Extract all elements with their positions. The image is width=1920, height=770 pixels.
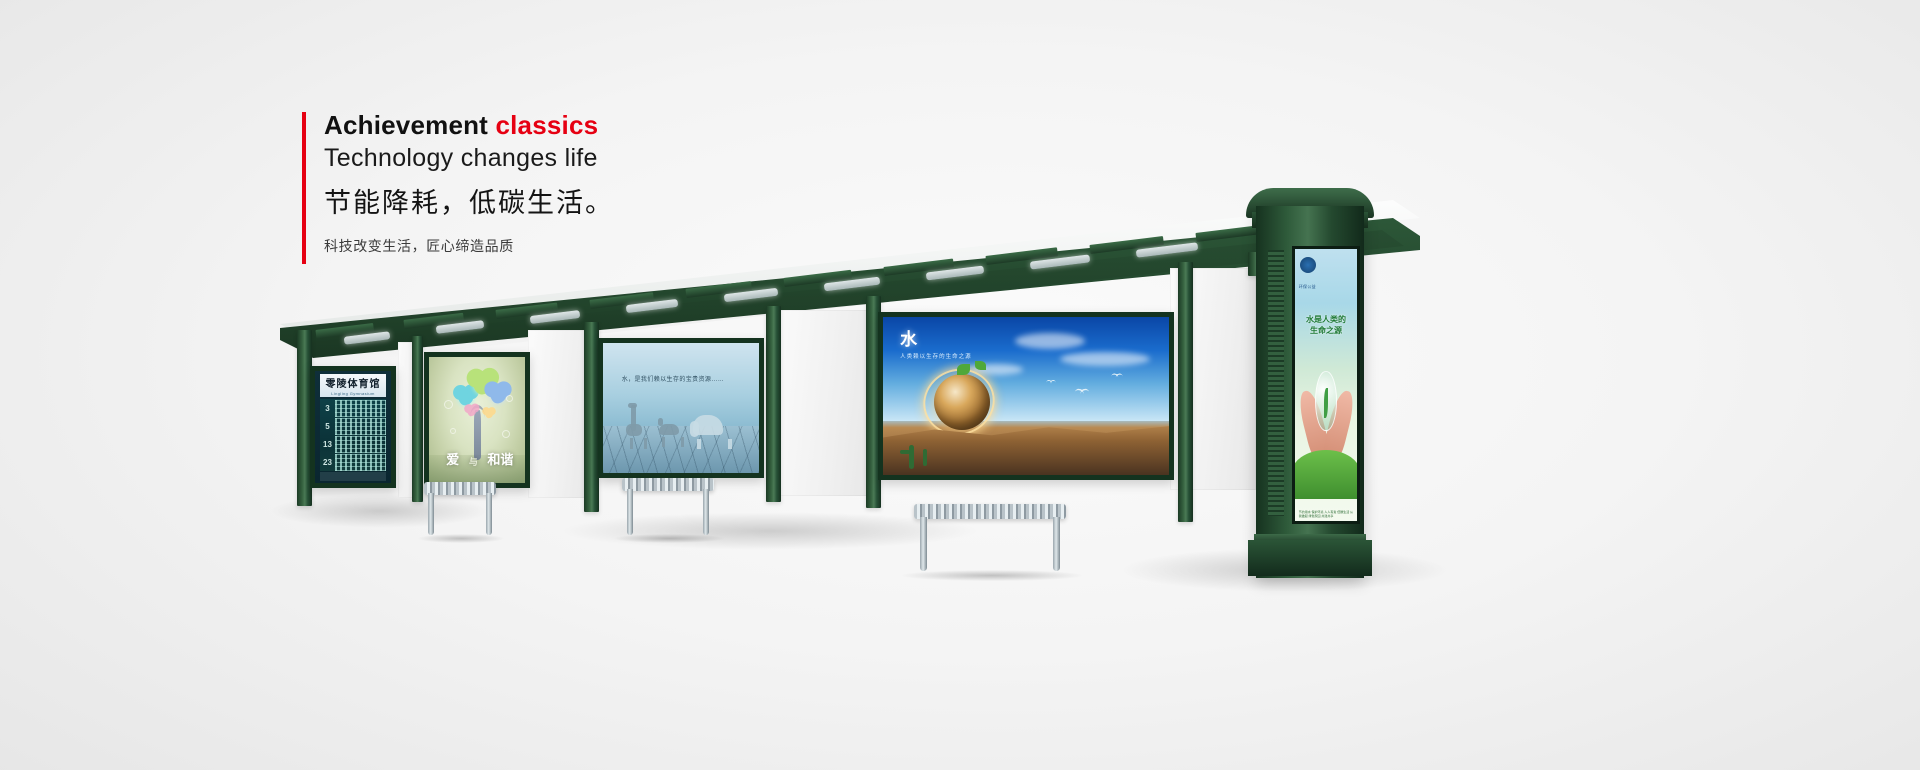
caption-left: 爱	[446, 449, 459, 468]
bird-icon	[1046, 380, 1056, 385]
timetable-row: 23	[320, 454, 385, 470]
tower-louver-vent	[1268, 250, 1284, 516]
tower-ad-headline: 水是人类的 生命之源	[1300, 314, 1352, 336]
timetable-lightbox[interactable]: 零陵体育馆 Lingling Gymnasium 3 5	[310, 366, 396, 488]
bench-shadow	[614, 534, 724, 543]
giraffe-silhouette	[630, 438, 633, 449]
timetable-hour: 5	[320, 422, 334, 431]
ad-animal-artwork: 水，是我们赖以生存的宝贵资源……	[603, 343, 759, 473]
timetable-hour: 13	[320, 440, 334, 449]
bench-leg	[486, 493, 492, 535]
station-name-cn: 零陵体育馆	[325, 375, 380, 390]
bench-leg	[920, 517, 927, 571]
scene-background: Achievement classics Technology changes …	[0, 0, 1920, 770]
ad-animal-caption: 水，是我们赖以生存的宝贵资源……	[622, 374, 724, 383]
station-name-en: Lingling Gymnasium	[331, 391, 374, 396]
tower-ad-lightbox[interactable]: 环保公益 水是人类的 生命之源 节约用水 保护环境 人人有责 低碳生活 从我做起…	[1292, 246, 1360, 524]
camel-silhouette	[662, 437, 665, 447]
bus-shelter: 零陵体育馆 Lingling Gymnasium 3 5	[0, 0, 1920, 770]
elephant-silhouette	[697, 439, 701, 449]
caption-right: 和谐	[487, 449, 513, 468]
tower-base	[1248, 540, 1372, 576]
tower-ad-headline-line2: 生命之源	[1300, 325, 1352, 336]
support-post	[412, 336, 423, 502]
desert-dunes	[883, 418, 1169, 475]
bench-leg	[627, 489, 633, 535]
organization-logo-text: 环保公益	[1299, 284, 1316, 290]
timetable-content: 零陵体育馆 Lingling Gymnasium 3 5	[315, 371, 391, 483]
ad-water-subtitle: 人类赖以生存的生命之源	[900, 352, 972, 360]
tower-ad-footer-text: 节约用水 保护环境 人人有责 低碳生活 从我做起 绿色家园 共建共享	[1299, 510, 1354, 518]
ad-water-artwork: 水 人类赖以生存的生命之源	[883, 317, 1169, 475]
ad-water-title: 水	[900, 325, 917, 350]
support-post	[584, 322, 599, 512]
bench-shadow	[902, 570, 1082, 581]
tower-ad-artwork: 环保公益 水是人类的 生命之源 节约用水 保护环境 人人有责 低碳生活 从我做起…	[1295, 249, 1357, 521]
bench	[914, 504, 1066, 576]
bench-leg	[428, 493, 434, 535]
cloud-decor	[1015, 333, 1085, 349]
timetable-grid: 3 5 13 23	[320, 399, 385, 471]
bird-icon	[1111, 373, 1123, 379]
ad-love-artwork: 爱 与 和谐	[429, 357, 525, 483]
back-panel	[528, 330, 592, 498]
cloud-decor	[1060, 352, 1150, 366]
giraffe-silhouette	[644, 438, 647, 449]
bubble-decor	[506, 395, 513, 402]
timetable-minutes	[335, 436, 386, 452]
ad-love-caption: 爱 与 和谐	[446, 449, 513, 468]
bench-seat	[914, 504, 1066, 519]
back-panel	[776, 310, 872, 496]
organization-logo-icon	[1300, 257, 1316, 273]
ad-screen: 爱 与 和谐	[429, 357, 525, 483]
timetable-header: 零陵体育馆 Lingling Gymnasium	[320, 374, 385, 396]
bird-icon	[1075, 388, 1090, 396]
camel-silhouette	[681, 437, 684, 447]
giraffe-silhouette	[626, 424, 642, 436]
timetable-row: 3	[320, 400, 385, 416]
bubble-decor	[450, 428, 456, 434]
ad-lightbox-water[interactable]: 水 人类赖以生存的生命之源	[878, 312, 1174, 480]
camel-silhouette	[658, 418, 663, 426]
bench-leg	[703, 489, 709, 535]
sprout-icon	[975, 361, 986, 370]
cactus-icon	[909, 445, 914, 469]
giraffe-silhouette	[628, 403, 637, 408]
timetable-row: 13	[320, 436, 385, 452]
bench	[622, 478, 714, 540]
bench-seat	[622, 478, 714, 491]
timetable-row: 5	[320, 418, 385, 434]
tower-ad-headline-line1: 水是人类的	[1300, 314, 1352, 325]
bubble-decor	[502, 430, 510, 438]
elephant-silhouette	[690, 421, 699, 437]
bench-leg	[1053, 517, 1060, 571]
green-arc-band	[1295, 450, 1357, 499]
timetable-screen: 零陵体育馆 Lingling Gymnasium 3 5	[315, 371, 391, 483]
ad-screen: 水 人类赖以生存的生命之源	[883, 317, 1169, 475]
bench	[424, 482, 496, 538]
bench-shadow	[418, 534, 504, 543]
ad-lightbox-love-harmony[interactable]: 爱 与 和谐	[424, 352, 530, 488]
timetable-minutes	[335, 400, 386, 416]
timetable-hour: 3	[320, 404, 334, 413]
timetable-minutes	[335, 418, 386, 434]
ad-screen: 水，是我们赖以生存的宝贵资源……	[603, 343, 759, 473]
elephant-silhouette	[728, 439, 732, 449]
timetable-minutes	[335, 454, 386, 470]
cactus-icon	[900, 450, 910, 454]
support-post	[766, 306, 781, 502]
timetable-hour: 23	[320, 458, 334, 467]
support-post	[1178, 262, 1193, 522]
bubble-decor	[444, 400, 453, 409]
caption-amp: 与	[469, 455, 478, 468]
ad-lightbox-animals[interactable]: 水，是我们赖以生存的宝贵资源……	[598, 338, 764, 478]
cactus-icon	[923, 449, 927, 466]
timetable-footer	[320, 472, 385, 481]
